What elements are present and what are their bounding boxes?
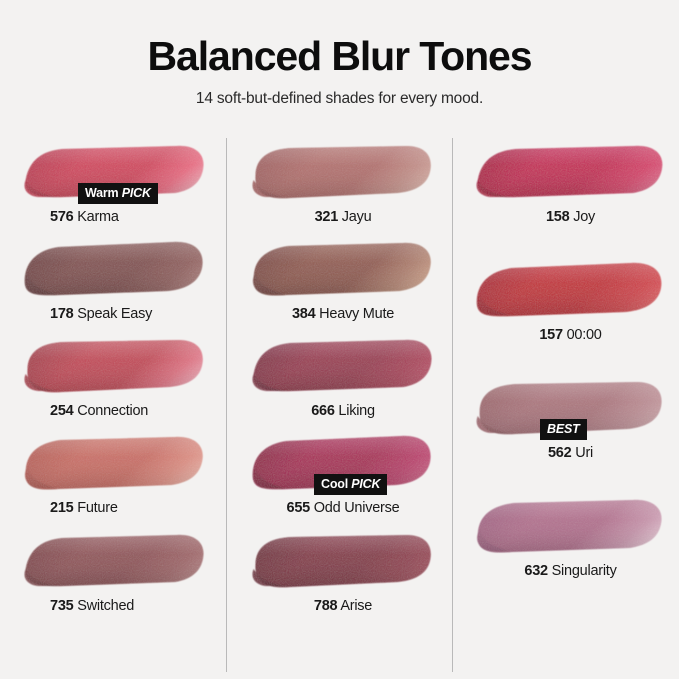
swatch-wrap: Warm PICK xyxy=(22,140,208,202)
shade-name: Liking xyxy=(335,403,375,419)
shade-code: 254 xyxy=(50,403,73,419)
lipstick-swatch xyxy=(474,140,667,202)
shade-name: Speak Easy xyxy=(73,306,152,322)
swatch-wrap xyxy=(250,237,436,299)
shade-entry[interactable]: 157 00:00 xyxy=(474,258,667,344)
shade-name: Joy xyxy=(569,209,595,225)
lipstick-swatch xyxy=(22,334,208,396)
shade-name: Uri xyxy=(571,445,593,461)
page-subtitle: 14 soft-but-defined shades for every moo… xyxy=(0,90,679,108)
shade-caption: 666 Liking xyxy=(250,402,436,420)
shade-entry[interactable]: 215 Future xyxy=(22,431,208,517)
shade-code: 384 xyxy=(292,306,315,322)
poster-root: Balanced Blur Tones 14 soft-but-defined … xyxy=(0,0,679,679)
shade-caption: 321 Jayu xyxy=(250,208,436,226)
swatch-wrap xyxy=(250,529,436,591)
shade-column-1: Warm PICK576 Karma xyxy=(0,132,226,679)
shade-entry[interactable]: Cool PICK655 Odd Universe xyxy=(250,431,436,517)
shade-column-2: 321 Jayu xyxy=(226,132,452,679)
lipstick-swatch xyxy=(250,334,436,396)
shade-code: 158 xyxy=(546,209,569,225)
shade-name: Odd Universe xyxy=(310,500,399,516)
swatch-wrap xyxy=(474,494,667,556)
shade-entry[interactable]: Warm PICK576 Karma xyxy=(22,140,208,226)
pick-badge: Warm PICK xyxy=(78,183,158,205)
shade-caption: 178 Speak Easy xyxy=(22,305,208,323)
swatch-wrap xyxy=(22,237,208,299)
pick-badge: BEST xyxy=(540,419,587,441)
shade-name: 00:00 xyxy=(563,327,602,343)
badge-strong-text: Warm xyxy=(85,186,122,200)
swatch-wrap xyxy=(22,529,208,591)
shade-code: 215 xyxy=(50,500,73,516)
swatch-wrap xyxy=(22,334,208,396)
shade-entry[interactable]: 158 Joy xyxy=(474,140,667,226)
lipstick-swatch xyxy=(22,431,208,493)
shade-name: Connection xyxy=(73,403,148,419)
shade-caption: 632 Singularity xyxy=(474,562,667,580)
shade-caption: 562 Uri xyxy=(474,444,667,462)
shade-name: Switched xyxy=(73,598,134,614)
swatch-wrap xyxy=(474,258,667,320)
shade-caption: 788 Arise xyxy=(250,597,436,615)
shade-name: Future xyxy=(73,500,117,516)
shade-code: 576 xyxy=(50,209,73,225)
swatch-wrap: BEST xyxy=(474,376,667,438)
badge-italic-text: PICK xyxy=(122,186,151,200)
shade-code: 157 xyxy=(539,327,562,343)
shade-entry[interactable]: 735 Switched xyxy=(22,529,208,615)
shade-entry[interactable]: 666 Liking xyxy=(250,334,436,420)
shade-code: 562 xyxy=(548,445,571,461)
badge-strong-text: Cool xyxy=(321,477,351,491)
shade-caption: 576 Karma xyxy=(22,208,208,226)
shade-column-3: 158 Joy xyxy=(452,132,679,679)
shade-grid: Warm PICK576 Karma xyxy=(0,132,679,679)
lipstick-swatch xyxy=(250,140,436,202)
shade-code: 735 xyxy=(50,598,73,614)
shade-entry[interactable]: 321 Jayu xyxy=(250,140,436,226)
lipstick-swatch xyxy=(474,494,667,556)
poster-header: Balanced Blur Tones 14 soft-but-defined … xyxy=(0,0,679,108)
swatch-wrap xyxy=(250,334,436,396)
shade-code: 321 xyxy=(315,209,338,225)
badge-italic-text: PICK xyxy=(351,477,380,491)
lipstick-swatch xyxy=(474,258,667,320)
shade-caption: 655 Odd Universe xyxy=(250,499,436,517)
shade-caption: 157 00:00 xyxy=(474,326,667,344)
shade-name: Jayu xyxy=(338,209,371,225)
lipstick-swatch xyxy=(250,529,436,591)
shade-name: Karma xyxy=(73,209,118,225)
shade-name: Heavy Mute xyxy=(315,306,394,322)
lipstick-swatch xyxy=(22,237,208,299)
shade-caption: 215 Future xyxy=(22,499,208,517)
shade-code: 178 xyxy=(50,306,73,322)
lipstick-swatch xyxy=(22,529,208,591)
shade-entry[interactable]: BEST562 Uri xyxy=(474,376,667,462)
badge-italic-text: BEST xyxy=(547,422,580,436)
page-title: Balanced Blur Tones xyxy=(0,34,679,79)
shade-caption: 735 Switched xyxy=(22,597,208,615)
shade-code: 788 xyxy=(314,598,337,614)
shade-caption: 158 Joy xyxy=(474,208,667,226)
shade-code: 666 xyxy=(311,403,334,419)
swatch-wrap xyxy=(22,431,208,493)
shade-name: Arise xyxy=(337,598,372,614)
shade-caption: 254 Connection xyxy=(22,402,208,420)
shade-caption: 384 Heavy Mute xyxy=(250,305,436,323)
swatch-wrap xyxy=(474,140,667,202)
pick-badge: Cool PICK xyxy=(314,474,387,496)
shade-entry[interactable]: 178 Speak Easy xyxy=(22,237,208,323)
shade-entry[interactable]: 788 Arise xyxy=(250,529,436,615)
lipstick-swatch xyxy=(250,237,436,299)
shade-name: Singularity xyxy=(548,563,617,579)
swatch-wrap: Cool PICK xyxy=(250,431,436,493)
shade-code: 655 xyxy=(287,500,310,516)
shade-entry[interactable]: 632 Singularity xyxy=(474,494,667,580)
shade-code: 632 xyxy=(524,563,547,579)
shade-entry[interactable]: 384 Heavy Mute xyxy=(250,237,436,323)
swatch-wrap xyxy=(250,140,436,202)
shade-entry[interactable]: 254 Connection xyxy=(22,334,208,420)
